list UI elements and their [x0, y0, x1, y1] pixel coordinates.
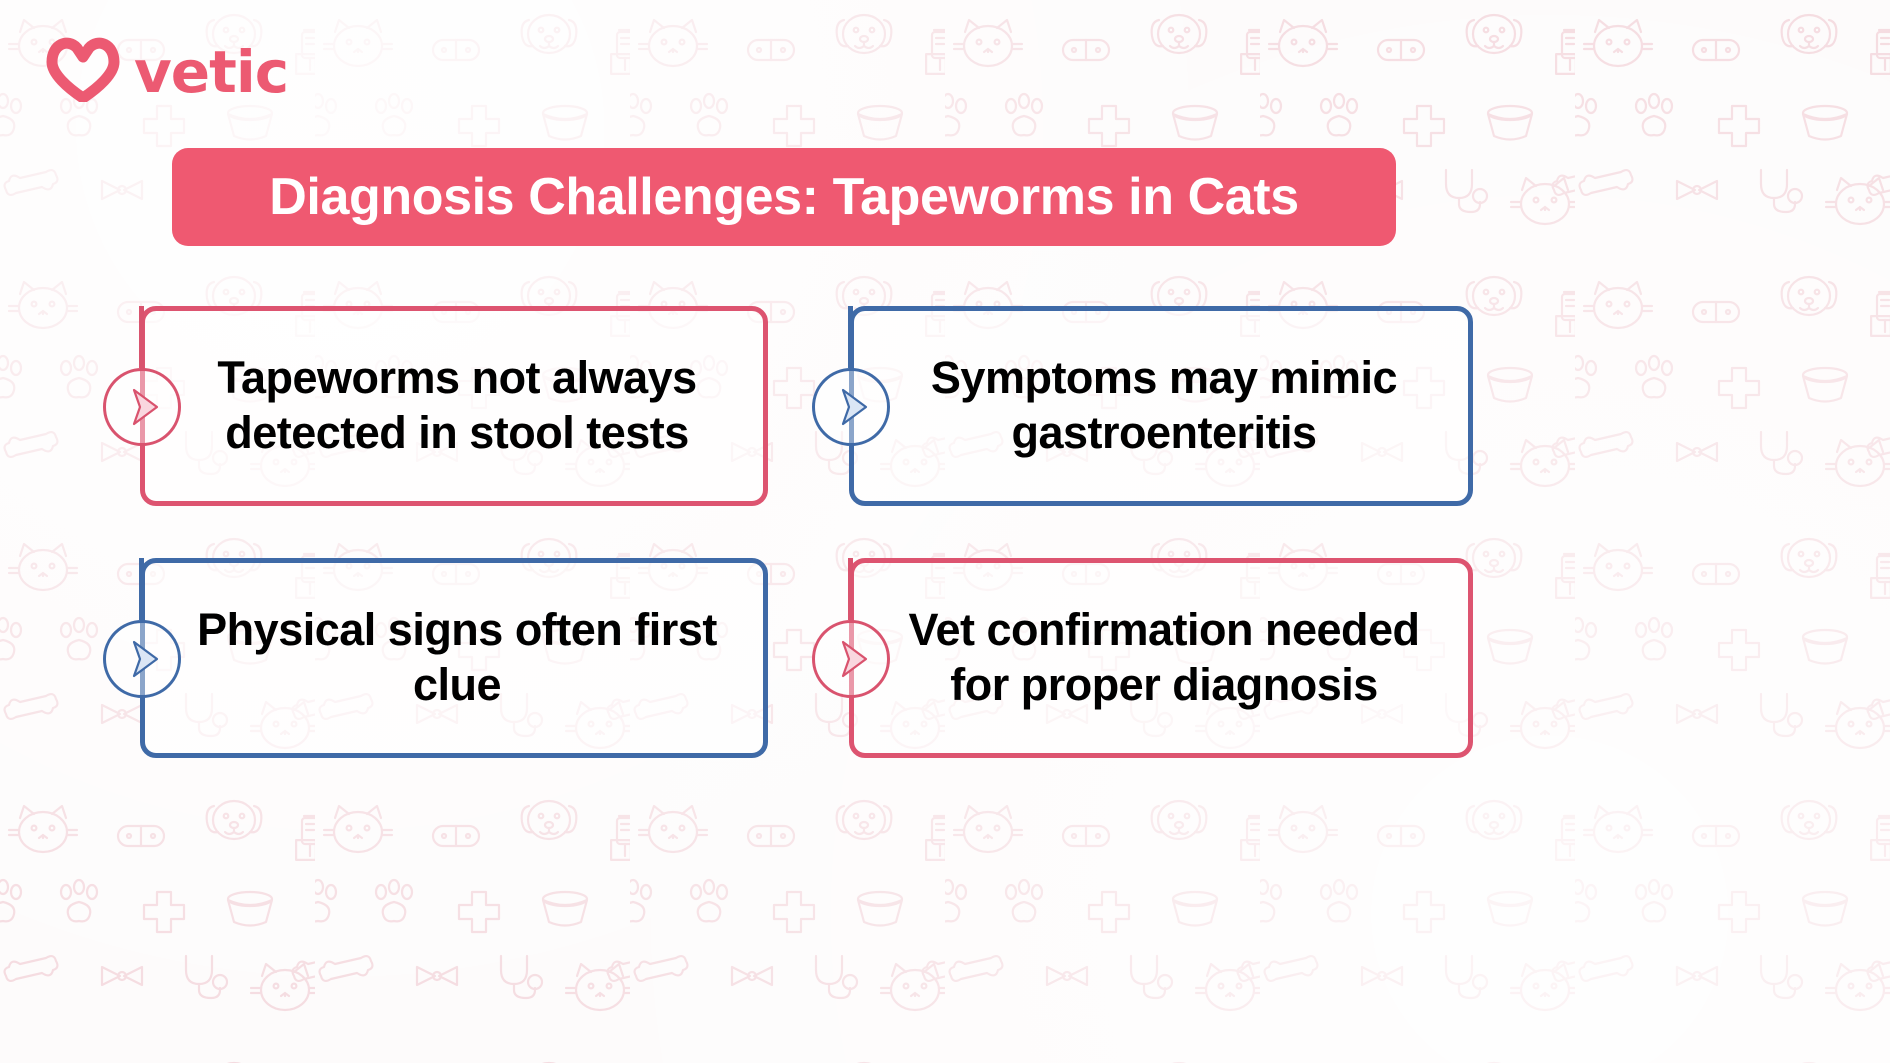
card-gastroenteritis[interactable]: Symptoms may mimic gastroenteritis — [849, 306, 1473, 506]
chevron-right-circle-icon — [103, 368, 181, 446]
infographic-canvas: vetic Diagnosis Challenges: Tapeworms in… — [0, 0, 1890, 1063]
card-physical-signs[interactable]: Physical signs often first clue — [140, 558, 768, 758]
heart-outline-icon — [46, 34, 120, 102]
brand-wordmark: vetic — [134, 43, 288, 101]
marker-vet-confirmation[interactable] — [812, 620, 890, 698]
marker-gastroenteritis[interactable] — [812, 368, 890, 446]
marker-stem — [848, 306, 853, 368]
page-title-banner: Diagnosis Challenges: Tapeworms in Cats — [172, 148, 1396, 246]
marker-physical-signs[interactable] — [103, 620, 181, 698]
chevron-right-circle-icon — [812, 368, 890, 446]
marker-stem — [848, 558, 853, 620]
page-title: Diagnosis Challenges: Tapeworms in Cats — [269, 171, 1298, 223]
chevron-right-circle-icon — [812, 620, 890, 698]
marker-stem — [139, 558, 144, 620]
chevron-right-circle-icon — [103, 620, 181, 698]
card-text: Vet confirmation needed for proper diagn… — [888, 603, 1440, 713]
card-text: Symptoms may mimic gastroenteritis — [888, 351, 1440, 461]
marker-stem — [139, 306, 144, 368]
card-vet-confirmation[interactable]: Vet confirmation needed for proper diagn… — [849, 558, 1473, 758]
card-text: Physical signs often first clue — [179, 603, 735, 713]
card-stool-tests[interactable]: Tapeworms not always detected in stool t… — [140, 306, 768, 506]
brand-logo: vetic — [46, 34, 288, 102]
marker-stool-tests[interactable] — [103, 368, 181, 446]
card-text: Tapeworms not always detected in stool t… — [179, 351, 735, 461]
